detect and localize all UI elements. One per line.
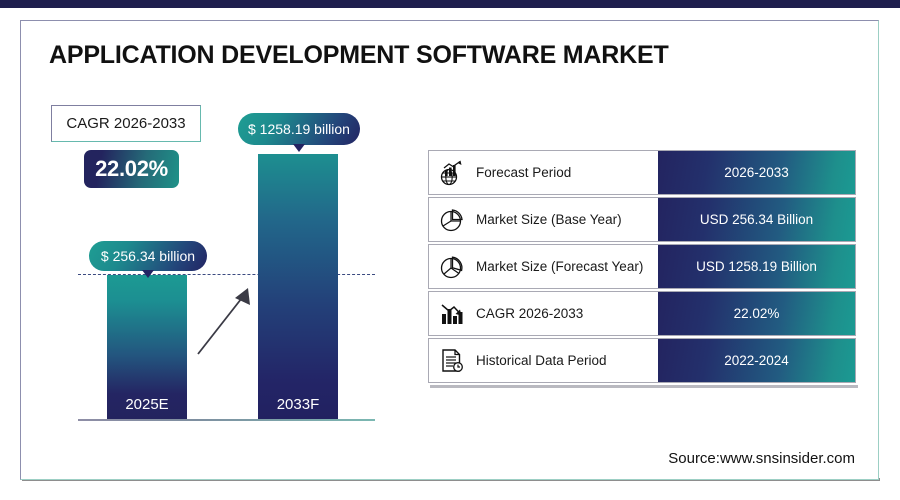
table-row: CAGR 2026-2033 22.02% <box>428 291 856 336</box>
value-callout-2033f: $ 1258.19 billion <box>238 113 360 145</box>
pie-chart-icon <box>437 205 467 235</box>
bar-2033f <box>258 154 338 420</box>
table-row-label-cell: Forecast Period <box>429 151 658 194</box>
top-accent-bar <box>0 0 900 8</box>
page-title: APPLICATION DEVELOPMENT SOFTWARE MARKET <box>49 41 669 70</box>
bar-label-2033f: 2033F <box>258 396 338 413</box>
pie-chart-icon <box>437 252 467 282</box>
document-clock-icon <box>437 346 467 376</box>
key-metrics-table: Forecast Period 2026-2033 Market Size (B… <box>428 150 856 385</box>
growth-arrow-icon <box>190 280 260 360</box>
table-shadow <box>430 385 858 388</box>
table-row-label-cell: CAGR 2026-2033 <box>429 292 658 335</box>
table-row-label: Market Size (Forecast Year) <box>476 259 643 274</box>
table-row-label: Historical Data Period <box>476 353 607 368</box>
cagr-value-badge: 22.02% <box>84 150 179 188</box>
table-row-label: Forecast Period <box>476 165 571 180</box>
value-callout-2025e: $ 256.34 billion <box>89 241 207 271</box>
table-row-value: USD 1258.19 Billion <box>658 245 855 288</box>
cagr-value-text: 22.02% <box>95 156 168 182</box>
bar-label-2025e: 2025E <box>107 396 187 413</box>
table-row-value: 22.02% <box>658 292 855 335</box>
infographic-canvas: APPLICATION DEVELOPMENT SOFTWARE MARKET … <box>0 0 900 500</box>
table-row-label-cell: Market Size (Forecast Year) <box>429 245 658 288</box>
chart-baseline <box>78 419 375 421</box>
table-row: Historical Data Period 2022-2024 <box>428 338 856 383</box>
table-row-label: CAGR 2026-2033 <box>476 306 583 321</box>
table-row-label-cell: Market Size (Base Year) <box>429 198 658 241</box>
table-row-label: Market Size (Base Year) <box>476 212 622 227</box>
table-row-value: 2026-2033 <box>658 151 855 194</box>
table-row-label-cell: Historical Data Period <box>429 339 658 382</box>
value-callout-2025e-pointer <box>142 270 154 278</box>
table-row-value: USD 256.34 Billion <box>658 198 855 241</box>
table-row: Market Size (Base Year) USD 256.34 Billi… <box>428 197 856 242</box>
table-row: Market Size (Forecast Year) USD 1258.19 … <box>428 244 856 289</box>
cagr-label-box: CAGR 2026-2033 <box>51 105 201 142</box>
value-callout-2033f-pointer <box>293 144 305 152</box>
table-row: Forecast Period 2026-2033 <box>428 150 856 195</box>
table-row-value: 2022-2024 <box>658 339 855 382</box>
bar-chart-decline-icon <box>437 299 467 329</box>
globe-bar-chart-icon <box>437 158 467 188</box>
cagr-label-text: CAGR 2026-2033 <box>66 115 185 132</box>
source-attribution: Source:www.snsinsider.com <box>668 450 855 467</box>
